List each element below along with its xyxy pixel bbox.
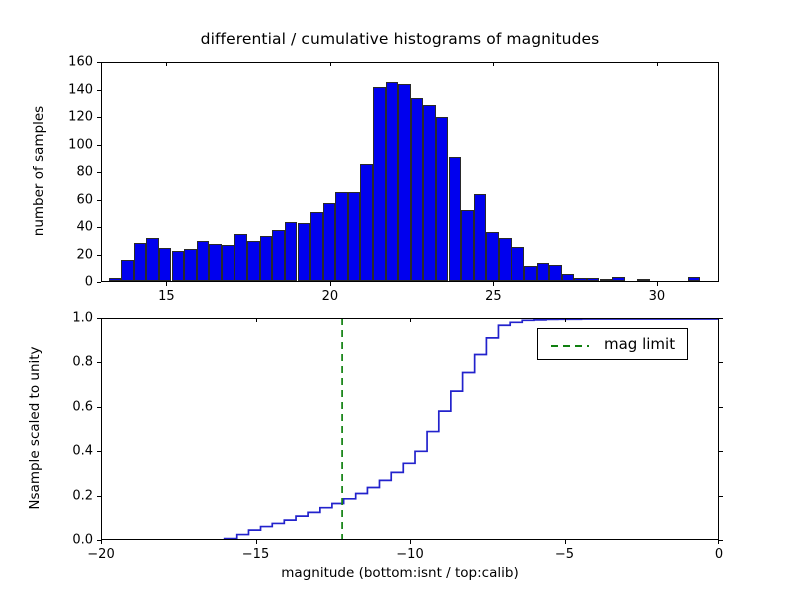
y-tick-label: 60 <box>76 192 93 207</box>
y-tick <box>97 282 101 283</box>
histogram-bar <box>247 241 260 281</box>
histogram-bar <box>234 234 247 281</box>
y-tick-label: 0.0 <box>72 533 93 548</box>
histogram-bar <box>209 244 222 281</box>
histogram-axes <box>101 62 719 282</box>
legend: mag limit <box>537 328 688 360</box>
cumulative-y-axis-label: Nsample scaled to unity <box>27 317 43 539</box>
histogram-bar <box>272 230 285 281</box>
histogram-bar <box>436 117 449 281</box>
x-tick-label: −20 <box>87 547 114 562</box>
figure-title: differential / cumulative histograms of … <box>0 30 800 48</box>
y-tick <box>97 90 101 91</box>
histogram-bar <box>310 212 323 281</box>
x-tick <box>410 540 411 544</box>
histogram-bar <box>121 260 134 281</box>
histogram-bar <box>360 164 373 281</box>
y-tick-label: 1.0 <box>72 311 93 326</box>
y-tick <box>97 407 101 408</box>
histogram-bar <box>197 241 210 281</box>
y-tick <box>97 496 101 497</box>
histogram-bar <box>574 278 587 281</box>
x-tick-top <box>101 318 102 322</box>
y-tick <box>97 200 101 201</box>
x-tick-top <box>565 318 566 322</box>
x-tick-label: 0 <box>715 547 723 562</box>
histogram-bar <box>411 98 424 281</box>
histogram-bar <box>562 274 575 281</box>
histogram-bar <box>474 194 487 281</box>
x-tick-top <box>330 62 331 66</box>
histogram-bar <box>373 87 386 281</box>
x-tick-label: −15 <box>242 547 269 562</box>
histogram-bar <box>184 249 197 281</box>
y-tick-label: 80 <box>76 165 93 180</box>
x-tick <box>657 282 658 286</box>
y-tick-label: 40 <box>76 220 93 235</box>
x-tick-label: 20 <box>322 289 339 304</box>
x-tick <box>565 540 566 544</box>
histogram-bar <box>461 210 474 282</box>
y-tick <box>97 451 101 452</box>
x-tick <box>101 540 102 544</box>
x-tick-top <box>256 318 257 322</box>
y-tick <box>97 172 101 173</box>
histogram-bar <box>587 278 600 281</box>
y-tick <box>97 227 101 228</box>
x-tick-top <box>166 62 167 66</box>
histogram-bar <box>600 279 613 281</box>
histogram-bar <box>146 238 159 281</box>
x-tick <box>493 282 494 286</box>
y-tick-right <box>719 318 723 319</box>
histogram-bars-layer <box>102 63 718 281</box>
y-tick-label: 160 <box>68 55 93 70</box>
histogram-bar <box>612 277 625 281</box>
histogram-bar <box>423 105 436 281</box>
histogram-bar <box>134 243 147 282</box>
histogram-bar <box>172 251 185 281</box>
x-tick-label: −5 <box>555 547 574 562</box>
histogram-bar <box>348 192 361 281</box>
y-tick <box>97 362 101 363</box>
y-tick <box>97 318 101 319</box>
x-tick-label: 15 <box>158 289 175 304</box>
histogram-bar <box>499 238 512 281</box>
histogram-bar <box>486 232 499 282</box>
legend-label-mag-limit: mag limit <box>604 335 675 353</box>
y-tick-label: 120 <box>68 110 93 125</box>
y-tick-label: 0.2 <box>72 488 93 503</box>
histogram-bar <box>537 263 550 281</box>
x-tick-top <box>410 318 411 322</box>
histogram-bar <box>285 222 298 281</box>
y-tick-right <box>719 362 723 363</box>
y-tick-label: 0.8 <box>72 355 93 370</box>
y-tick-label: 20 <box>76 247 93 262</box>
x-tick-label: −10 <box>396 547 423 562</box>
x-tick-label: 25 <box>485 289 502 304</box>
y-tick-label: 0.6 <box>72 399 93 414</box>
y-tick-right <box>719 407 723 408</box>
x-tick-label: 30 <box>649 289 666 304</box>
x-tick <box>256 540 257 544</box>
y-tick <box>97 117 101 118</box>
y-tick <box>97 255 101 256</box>
histogram-bar <box>398 84 411 281</box>
cumulative-x-axis-label: magnitude (bottom:isnt / top:calib) <box>0 565 800 581</box>
x-tick <box>166 282 167 286</box>
y-tick-right <box>719 496 723 497</box>
x-tick-top <box>657 62 658 66</box>
x-tick-top <box>493 62 494 66</box>
y-tick <box>97 145 101 146</box>
y-tick-label: 140 <box>68 82 93 97</box>
y-tick-label: 0.4 <box>72 444 93 459</box>
y-tick-label: 0 <box>85 275 93 290</box>
histogram-bar <box>260 236 273 281</box>
histogram-bar <box>298 223 311 281</box>
histogram-bar <box>335 192 348 281</box>
histogram-y-axis-label: number of samples <box>31 61 47 281</box>
x-tick <box>330 282 331 286</box>
histogram-bar <box>549 265 562 282</box>
histogram-bar <box>688 277 701 281</box>
histogram-bar <box>222 245 235 281</box>
y-tick <box>97 62 101 63</box>
histogram-bar <box>449 157 462 281</box>
histogram-bar <box>511 247 524 281</box>
y-tick-right <box>719 451 723 452</box>
y-tick-right <box>719 540 723 541</box>
histogram-bar <box>637 279 650 281</box>
histogram-bar <box>159 248 172 281</box>
histogram-bar <box>323 203 336 281</box>
histogram-bar <box>386 82 399 281</box>
y-tick <box>97 540 101 541</box>
mag-limit-line-icon <box>550 343 590 345</box>
histogram-bar <box>109 278 122 281</box>
histogram-bar <box>524 266 537 281</box>
figure-canvas: differential / cumulative histograms of … <box>0 0 800 600</box>
y-tick-label: 100 <box>68 137 93 152</box>
